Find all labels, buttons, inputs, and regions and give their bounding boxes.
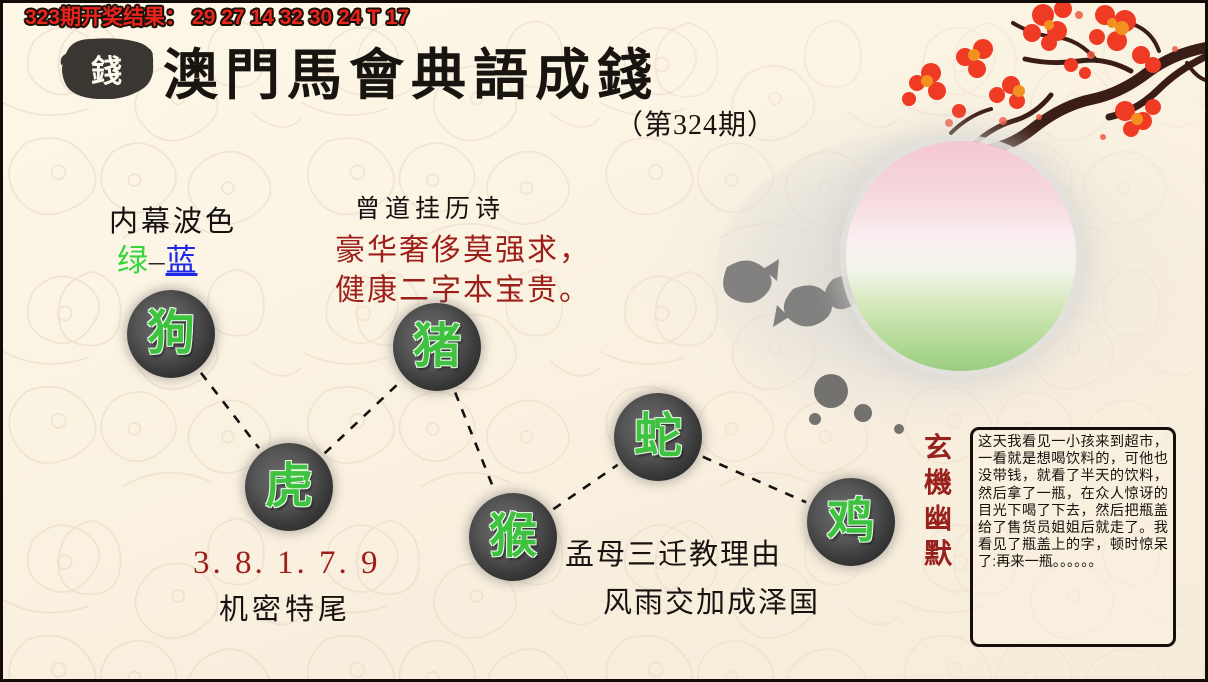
poem-line-2: 健康二字本宝贵。 (335, 265, 591, 309)
caption-line-2: 风雨交加成泽国 (603, 579, 820, 621)
zodiac-node-3[interactable]: 蛇 (614, 393, 702, 481)
page-title: 澳門馬會典語成錢 (163, 30, 659, 110)
caption-line-1: 孟母三迁教理由 (565, 531, 782, 573)
vertical-label-char-3: 默 (920, 537, 956, 572)
zodiac-node-1[interactable]: 猪 (393, 303, 481, 391)
draw-result-label: 323期开奖结果： (25, 6, 186, 29)
zodiac-node-0[interactable]: 狗 (127, 290, 215, 378)
draw-result-numbers: 29 27 14 32 30 24 T 17 (192, 6, 409, 29)
story-text: 这天我看见一小孩来到超市，一看就是想喝饮料的，可他也没带钱，就看了半天的饮料，然… (978, 434, 1168, 572)
zodiac-node-label: 狗 (147, 310, 195, 358)
zodiac-edge-0 (201, 373, 259, 448)
zodiac-node-4[interactable]: 猴 (469, 493, 557, 581)
poster-page: 323期开奖结果：29 27 14 32 30 24 T 17 錢 澳門馬會典語… (0, 0, 1208, 682)
zodiac-node-label: 虎 (265, 463, 313, 511)
zodiac-node-5[interactable]: 鸡 (807, 478, 895, 566)
bose-color-first: 绿 (117, 243, 149, 278)
zodiac-node-label: 鸡 (827, 498, 875, 546)
seal-character: 錢 (55, 37, 155, 99)
bose-separator: – (149, 243, 166, 278)
zodiac-edge-4 (703, 457, 806, 503)
zodiac-node-label: 蛇 (634, 413, 682, 461)
rooster-scene-illustration (846, 141, 1076, 371)
ink-seal-badge: 錢 (55, 37, 155, 99)
bose-values: 绿–蓝 (117, 235, 198, 280)
zodiac-node-2[interactable]: 虎 (245, 443, 333, 531)
poem-title: 曾道挂历诗 (355, 189, 505, 225)
zodiac-edge-3 (553, 465, 617, 509)
story-box: 这天我看见一小孩来到超市，一看就是想喝饮料的，可他也没带钱，就看了半天的饮料，然… (970, 427, 1176, 647)
issue-number: （第324期） (615, 103, 776, 143)
zodiac-edge-1 (325, 381, 402, 454)
zodiac-node-label: 猴 (489, 513, 537, 561)
secret-tail-label: 机密特尾 (219, 586, 351, 628)
poem-line-1: 豪华奢侈莫强求， (335, 225, 591, 269)
vertical-label-xuanji: 玄機幽默 (920, 431, 956, 572)
secret-tail-numbers: 3. 8. 1. 7. 9 (193, 545, 381, 582)
zodiac-node-label: 猪 (413, 323, 461, 371)
zodiac-edge-2 (455, 392, 495, 491)
vertical-label-char-0: 玄 (920, 431, 956, 466)
bose-title: 内幕波色 (109, 198, 237, 240)
draw-result-banner: 323期开奖结果：29 27 14 32 30 24 T 17 (25, 1, 409, 31)
vertical-label-char-1: 機 (920, 466, 956, 501)
vertical-label-char-2: 幽 (920, 502, 956, 537)
bose-color-second: 蓝 (166, 243, 198, 278)
